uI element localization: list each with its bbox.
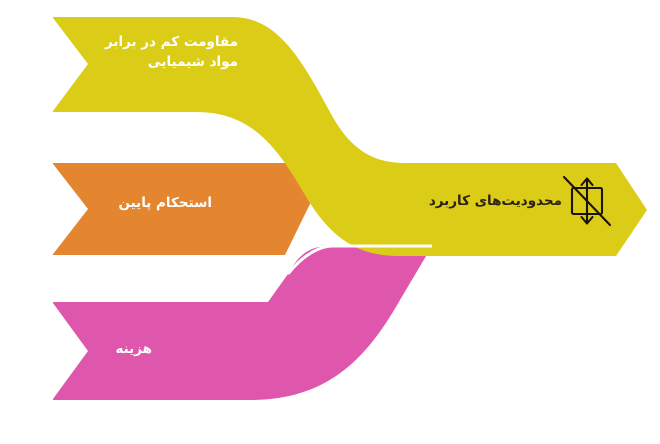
- band-shape-strength[interactable]: [53, 163, 330, 255]
- band-shape-cost[interactable]: [53, 246, 432, 400]
- flow-diagram: مقاومت کم در برابر مواد شیمیایی استحکام …: [0, 0, 660, 444]
- flow-shapes: [0, 0, 660, 444]
